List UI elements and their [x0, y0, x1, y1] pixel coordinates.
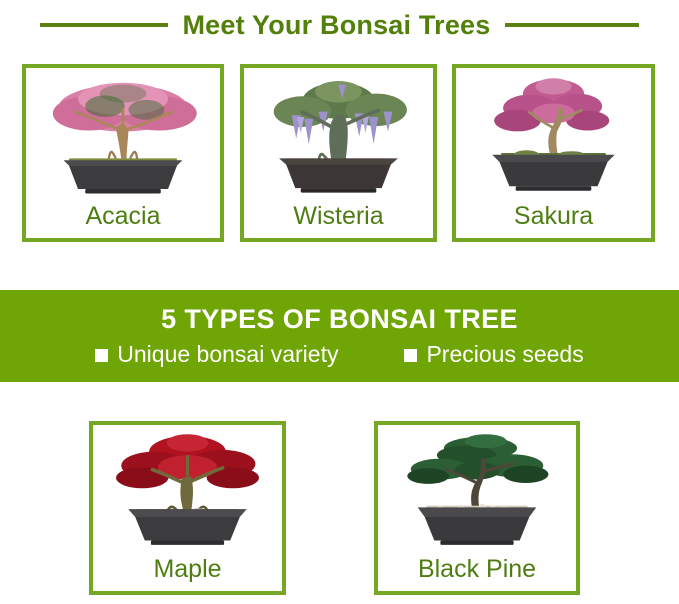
tree-card-black-pine[interactable]: Black Pine [374, 421, 580, 595]
page-title: Meet Your Bonsai Trees [182, 12, 490, 39]
tree-card-label: Wisteria [293, 204, 383, 238]
tree-card-wisteria[interactable]: Wisteria [240, 64, 437, 242]
bonsai-tree-acacia-icon [26, 72, 220, 198]
bonsai-tree-maple-icon [93, 429, 282, 551]
tree-card-label: Black Pine [418, 557, 536, 591]
tree-card-maple[interactable]: Maple [89, 421, 286, 595]
tree-card-label: Acacia [85, 204, 160, 238]
tree-card-acacia[interactable]: Acacia [22, 64, 224, 242]
square-bullet-icon [95, 349, 108, 362]
header-rule-right-icon [505, 23, 639, 27]
banner-bullet-item: Unique bonsai variety [95, 343, 338, 366]
tree-card-label: Sakura [514, 204, 593, 238]
banner-bullet-label: Unique bonsai variety [117, 343, 338, 366]
banner-bullet-list: Unique bonsai variety Precious seeds [0, 343, 679, 366]
tree-card-label: Maple [153, 557, 221, 591]
banner-bullet-label: Precious seeds [426, 343, 583, 366]
bonsai-tree-black-pine-icon [378, 429, 576, 551]
header-rule-left-icon [40, 23, 168, 27]
tree-card-sakura[interactable]: Sakura [452, 64, 655, 242]
banner-title: 5 TYPES OF BONSAI TREE [161, 306, 518, 333]
square-bullet-icon [404, 349, 417, 362]
bonsai-tree-wisteria-icon [244, 72, 433, 198]
banner-bullet-item: Precious seeds [404, 343, 583, 366]
promo-banner: 5 TYPES OF BONSAI TREE Unique bonsai var… [0, 290, 679, 382]
page-header: Meet Your Bonsai Trees [0, 0, 679, 50]
bonsai-tree-sakura-icon [456, 72, 651, 198]
